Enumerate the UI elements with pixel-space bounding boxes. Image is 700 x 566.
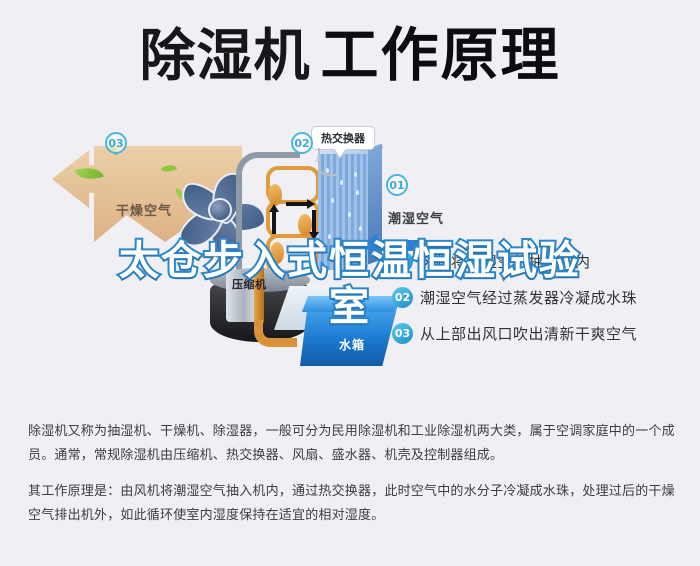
step-text: 从上部出风口吹出清新干爽空气: [420, 323, 637, 344]
callout-leader-line: [318, 148, 338, 176]
water-tank-label: 水箱: [339, 336, 365, 353]
description-text: 除湿机又称为抽湿机、干燥机、除湿器，一般可分为民用除湿机和工业除湿机两大类，属于…: [28, 420, 676, 540]
step-badge: 01: [392, 251, 413, 272]
water-tank-graphic: [300, 296, 404, 370]
diagram-marker-03: 03: [105, 132, 127, 154]
step-list: 01 风机将潮湿空气抽入机内 02 潮湿空气经过蒸发器冷凝成水珠 03 从上部出…: [392, 243, 692, 351]
list-item: 01 风机将潮湿空气抽入机内: [392, 243, 692, 279]
list-item: 02 潮湿空气经过蒸发器冷凝成水珠: [392, 279, 692, 315]
poster-root: 除湿机工作原理: [0, 0, 700, 566]
step-badge: 03: [392, 323, 413, 344]
paragraph-1: 除湿机又称为抽湿机、干燥机、除湿器，一般可分为民用除湿机和工业除湿机两大类，属于…: [28, 420, 676, 468]
leaf-icon: [74, 162, 103, 184]
heat-exchanger-callout: 热交换器: [311, 126, 375, 150]
paragraph-2: 其工作原理是：由风机将潮湿空气抽入机内，通过热交换器，此时空气中的水分子冷凝成水…: [28, 480, 676, 528]
diagram-marker-02: 02: [291, 132, 313, 154]
step-text: 潮湿空气经过蒸发器冷凝成水珠: [420, 287, 637, 308]
flow-arrow-right: [286, 202, 308, 206]
flow-arrow-down: [312, 210, 316, 232]
compressor-label: 压缩机: [232, 276, 267, 292]
step-badge: 02: [392, 287, 413, 308]
diagram-marker-01: 01: [386, 174, 408, 196]
step-text: 风机将潮湿空气抽入机内: [420, 251, 591, 272]
dry-air-label: 干燥空气: [116, 200, 172, 219]
page-title: 除湿机工作原理: [0, 26, 700, 85]
humid-air-label: 潮湿空气: [388, 208, 444, 227]
page-title-part2: 工作原理: [320, 21, 560, 89]
flow-arrow-up: [272, 212, 276, 234]
page-title-part1: 除湿机: [139, 24, 310, 89]
list-item: 03 从上部出风口吹出清新干爽空气: [392, 315, 692, 351]
